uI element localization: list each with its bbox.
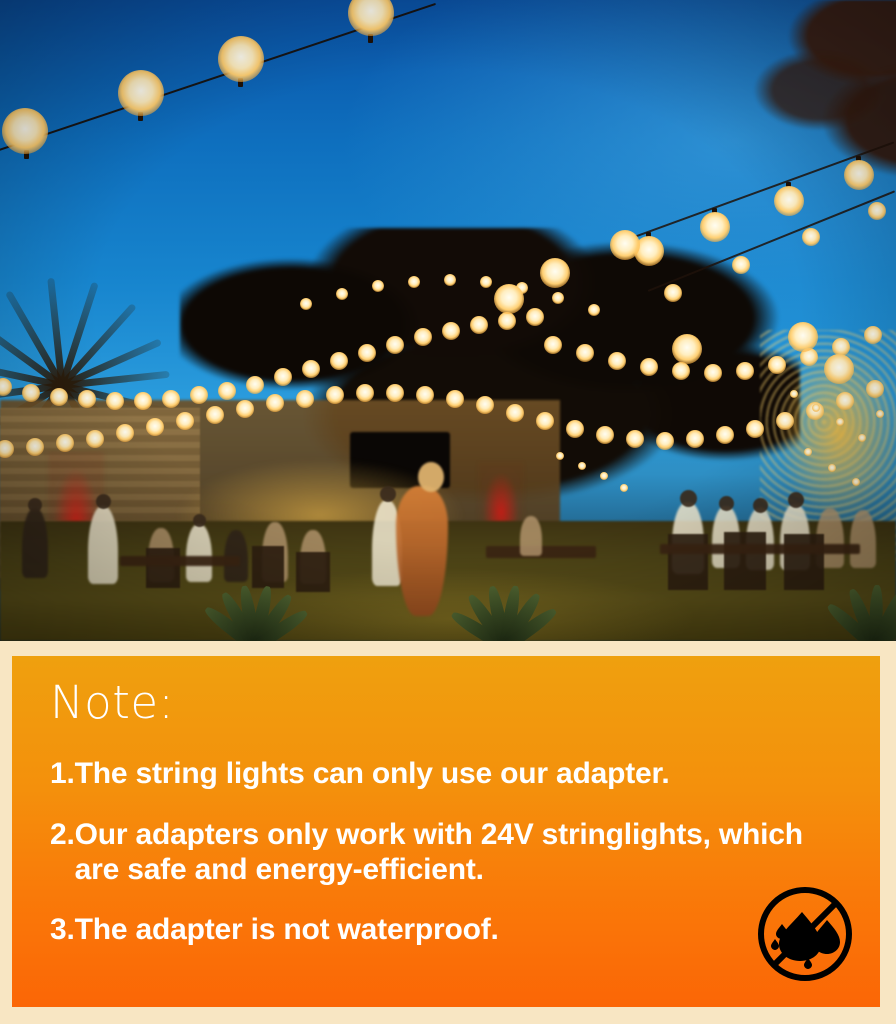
product-infographic: Note: 1. The string lights can only use … xyxy=(0,0,896,1024)
note-item-text: Our adapters only work with 24V stringli… xyxy=(75,818,850,888)
note-item-number: 2. xyxy=(50,818,75,853)
note-title: Note: xyxy=(50,680,174,725)
agave-plant-right xyxy=(800,577,896,641)
agave-plant-center xyxy=(180,577,330,641)
note-item-text: The adapter is not waterproof. xyxy=(75,913,850,948)
note-list: 1. The string lights can only use our ad… xyxy=(50,757,850,948)
outdoor-party-photo xyxy=(0,0,896,641)
no-water-icon xyxy=(755,884,855,984)
note-item-number: 1. xyxy=(50,757,75,792)
note-list-item: 3. The adapter is not waterproof. xyxy=(50,913,850,948)
note-item-text: The string lights can only use our adapt… xyxy=(75,757,850,792)
note-list-item: 2. Our adapters only work with 24V strin… xyxy=(50,818,850,888)
note-list-item: 1. The string lights can only use our ad… xyxy=(50,757,850,792)
dancing-woman-head xyxy=(418,462,444,492)
agave-plant-mid xyxy=(430,577,580,641)
note-item-number: 3. xyxy=(50,913,75,948)
